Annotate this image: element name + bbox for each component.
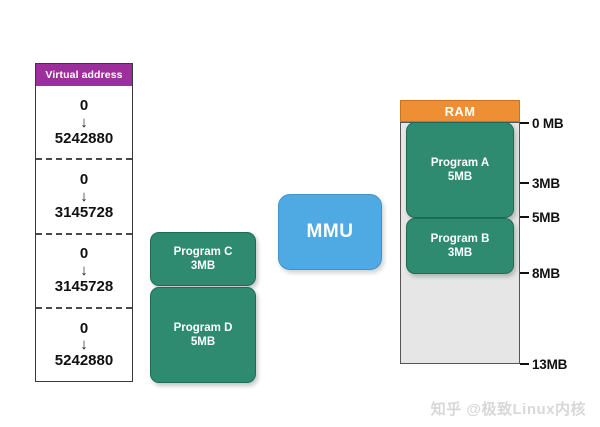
tick-dash-icon [520,182,529,184]
down-arrow-icon: ↓ [80,115,88,130]
tick-dash-icon [520,122,529,124]
tick-label: 13MB [532,357,567,372]
memory-axis: 0 MB 3MB 5MB 8MB 13MB [520,0,600,427]
virtual-address-segment: 0 ↓ 5242880 [36,86,132,158]
down-arrow-icon: ↓ [80,263,88,278]
tick-label: 0 MB [532,116,563,131]
tick-label: 8MB [532,266,560,281]
down-arrow-icon: ↓ [80,337,88,352]
segment-end-address: 3145728 [55,205,113,221]
program-name: Program C [174,245,233,259]
virtual-address-header: Virtual address [36,64,132,86]
axis-tick: 5MB [520,210,560,224]
tick-dash-icon [520,272,529,274]
program-name: Program B [431,232,490,246]
tick-dash-icon [520,216,529,218]
virtual-address-column: Virtual address 0 ↓ 5242880 0 ↓ 3145728 … [35,63,133,382]
segment-start-address: 0 [80,246,88,262]
segment-end-address: 3145728 [55,279,113,295]
segment-start-address: 0 [80,321,88,337]
tick-label: 3MB [532,176,560,191]
segment-end-address: 5242880 [55,353,113,369]
axis-tick: 13MB [520,357,567,371]
segment-end-address: 5242880 [55,131,113,147]
virtual-address-segment: 0 ↓ 3145728 [36,158,132,232]
tick-dash-icon [520,363,529,365]
program-block-d: Program D 5MB [150,287,256,383]
down-arrow-icon: ↓ [80,189,88,204]
program-name: Program A [431,156,489,170]
virtual-address-segments: 0 ↓ 5242880 0 ↓ 3145728 0 ↓ 3145728 0 ↓ … [36,86,132,381]
axis-tick: 3MB [520,176,560,190]
program-name: Program D [174,321,233,335]
diagram-canvas: Virtual address 0 ↓ 5242880 0 ↓ 3145728 … [0,0,600,427]
axis-tick: 0 MB [520,116,563,130]
mmu-label: MMU [307,221,354,243]
tick-label: 5MB [532,210,560,225]
program-size: 3MB [191,259,215,273]
program-block-c: Program C 3MB [150,232,256,286]
virtual-address-segment: 0 ↓ 5242880 [36,307,132,381]
watermark: 知乎 @极致Linux内核 [431,398,586,419]
segment-start-address: 0 [80,98,88,114]
program-size: 5MB [448,170,472,184]
program-size: 5MB [191,335,215,349]
program-block-b: Program B 3MB [406,218,514,274]
program-size: 3MB [448,246,472,260]
mmu-block: MMU [278,194,382,270]
program-block-a: Program A 5MB [406,122,514,218]
virtual-address-segment: 0 ↓ 3145728 [36,233,132,307]
segment-start-address: 0 [80,172,88,188]
ram-header: RAM [400,100,520,122]
axis-tick: 8MB [520,266,560,280]
